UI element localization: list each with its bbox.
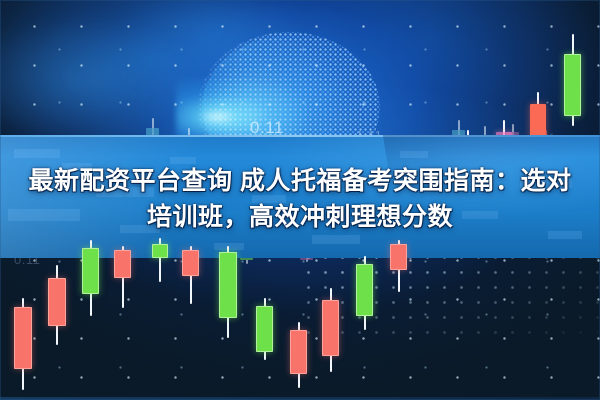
candle-body <box>564 54 581 116</box>
candle-body <box>48 278 66 326</box>
candle-body <box>114 250 131 278</box>
candle-body <box>390 244 407 270</box>
candle-body <box>322 300 339 356</box>
promo-banner: 0.111.011.010.110.111.011.011.110.211.01… <box>0 0 600 400</box>
title-line-2: 培训班，高效冲刺理想分数 <box>0 199 600 235</box>
candle-body <box>356 264 373 316</box>
candle-body <box>182 250 199 276</box>
candle-body <box>152 244 168 258</box>
page-title: 最新配资平台查询 成人托福备考突围指南：选对 培训班，高效冲刺理想分数 <box>0 163 600 235</box>
title-line-1: 最新配资平台查询 成人托福备考突围指南：选对 <box>0 163 600 199</box>
candle-body <box>14 307 32 369</box>
candle-body <box>290 330 307 374</box>
candle-body <box>219 252 237 318</box>
candle-body <box>256 306 273 352</box>
candle-body <box>82 248 99 294</box>
